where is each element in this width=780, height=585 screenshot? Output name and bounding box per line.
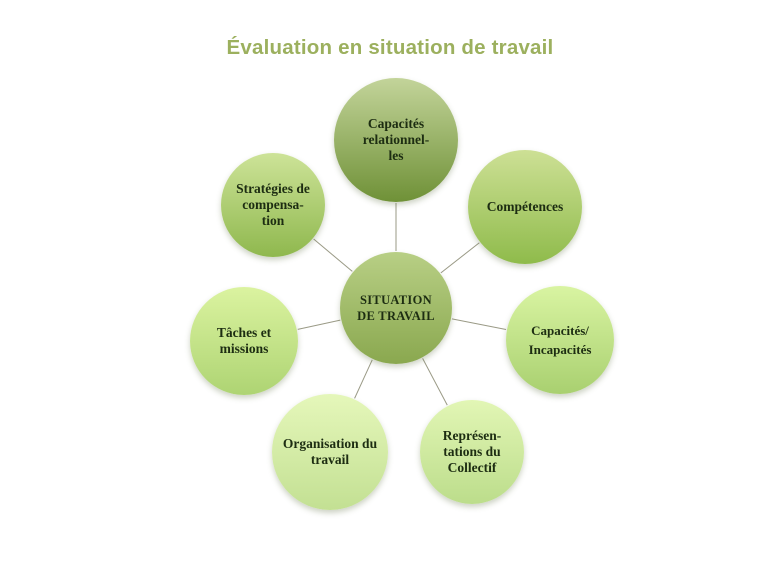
- connector-taches-et-missions: [298, 320, 341, 329]
- node-capacites-incapacites[interactable]: Capacités/ Incapacités: [506, 286, 614, 394]
- connector-strategies-de-compensation: [314, 239, 353, 271]
- connector-representations-du-collectif: [423, 358, 448, 405]
- node-situation-de-travail-label: SITUATION DE TRAVAIL: [351, 292, 441, 325]
- diagram-canvas: Évaluation en situation de travail SITUA…: [0, 0, 780, 585]
- page-title: Évaluation en situation de travail: [0, 36, 780, 60]
- connector-capacites-incapacites: [452, 319, 506, 330]
- node-representations-du-collectif-label: Représen- tations du Collectif: [437, 428, 507, 476]
- node-capacites-incapacites-label: Capacités/ Incapacités: [523, 321, 598, 360]
- node-capacites-relationnelles[interactable]: Capacités relationnel- les: [334, 78, 458, 202]
- node-taches-et-missions[interactable]: Tâches et missions: [190, 287, 298, 395]
- node-strategies-de-compensation-label: Stratégies de compensa- tion: [230, 181, 316, 229]
- node-representations-du-collectif[interactable]: Représen- tations du Collectif: [420, 400, 524, 504]
- node-competences-label: Compétences: [481, 199, 569, 215]
- node-competences[interactable]: Compétences: [468, 150, 582, 264]
- node-situation-de-travail[interactable]: SITUATION DE TRAVAIL: [340, 252, 452, 364]
- node-taches-et-missions-label: Tâches et missions: [211, 325, 277, 357]
- node-strategies-de-compensation[interactable]: Stratégies de compensa- tion: [221, 153, 325, 257]
- node-organisation-du-travail-label: Organisation du travail: [277, 436, 383, 468]
- connector-organisation-du-travail: [355, 360, 373, 399]
- node-capacites-relationnelles-label: Capacités relationnel- les: [357, 116, 436, 164]
- connector-competences: [441, 243, 479, 273]
- node-organisation-du-travail[interactable]: Organisation du travail: [272, 394, 388, 510]
